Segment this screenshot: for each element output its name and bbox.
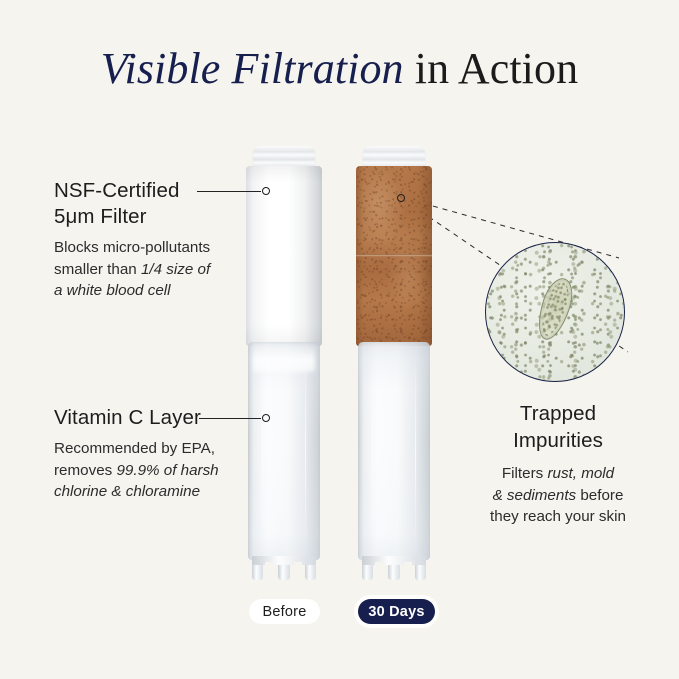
filter-section-sediment bbox=[356, 166, 432, 346]
badge-30-days[interactable]: 30 Days bbox=[358, 599, 435, 624]
foot-notch bbox=[294, 562, 302, 568]
filter-cartridge-30-days[interactable] bbox=[356, 146, 432, 586]
callout-trapped-impurities: Trapped Impurities Filters rust, mold & … bbox=[468, 400, 648, 528]
infographic-canvas: Visible Filtration in Action bbox=[0, 0, 679, 679]
title-emphasis: Visible Filtration bbox=[101, 44, 404, 93]
callout-body-lead: Filters bbox=[502, 465, 548, 482]
badge-label: 30 Days bbox=[368, 604, 424, 620]
cartridge-foot bbox=[362, 556, 426, 582]
callout-vitamin-c-layer: Vitamin C Layer Recommended by EPA, remo… bbox=[54, 405, 269, 503]
foot-bar bbox=[362, 556, 426, 565]
cartridge-highlight-left bbox=[372, 352, 373, 550]
callout-body: Blocks micro-pollutants smaller than 1/4… bbox=[54, 237, 264, 302]
cartridge-highlight-right bbox=[305, 352, 306, 550]
foot-notch bbox=[375, 562, 383, 568]
badge-before[interactable]: Before bbox=[249, 599, 320, 624]
callout-marker-impurities bbox=[397, 194, 405, 202]
page-title: Visible Filtration in Action bbox=[0, 42, 679, 96]
cartridge-body-translucent bbox=[358, 342, 430, 560]
cartridge-highlight-right bbox=[415, 352, 416, 550]
badge-label: Before bbox=[263, 604, 307, 620]
callout-heading: Vitamin C Layer bbox=[54, 405, 269, 431]
callout-heading: Trapped Impurities bbox=[468, 400, 648, 454]
cartridge-foot bbox=[252, 556, 316, 582]
callout-heading: NSF-Certified 5μm Filter bbox=[54, 178, 264, 230]
foot-bar bbox=[252, 556, 316, 565]
title-rest: in Action bbox=[404, 44, 579, 93]
foot-notch bbox=[404, 562, 412, 568]
foot-notch bbox=[265, 562, 273, 568]
callout-body: Filters rust, mold & sediments before th… bbox=[468, 463, 648, 528]
callout-body: Recommended by EPA, removes 99.9% of har… bbox=[54, 438, 269, 503]
callout-nsf-certified: NSF-Certified 5μm Filter Blocks micro-po… bbox=[54, 178, 264, 302]
cartridge-body-shading bbox=[358, 342, 430, 560]
magnifier-circle bbox=[485, 242, 625, 382]
filter-band-seam bbox=[356, 254, 432, 257]
